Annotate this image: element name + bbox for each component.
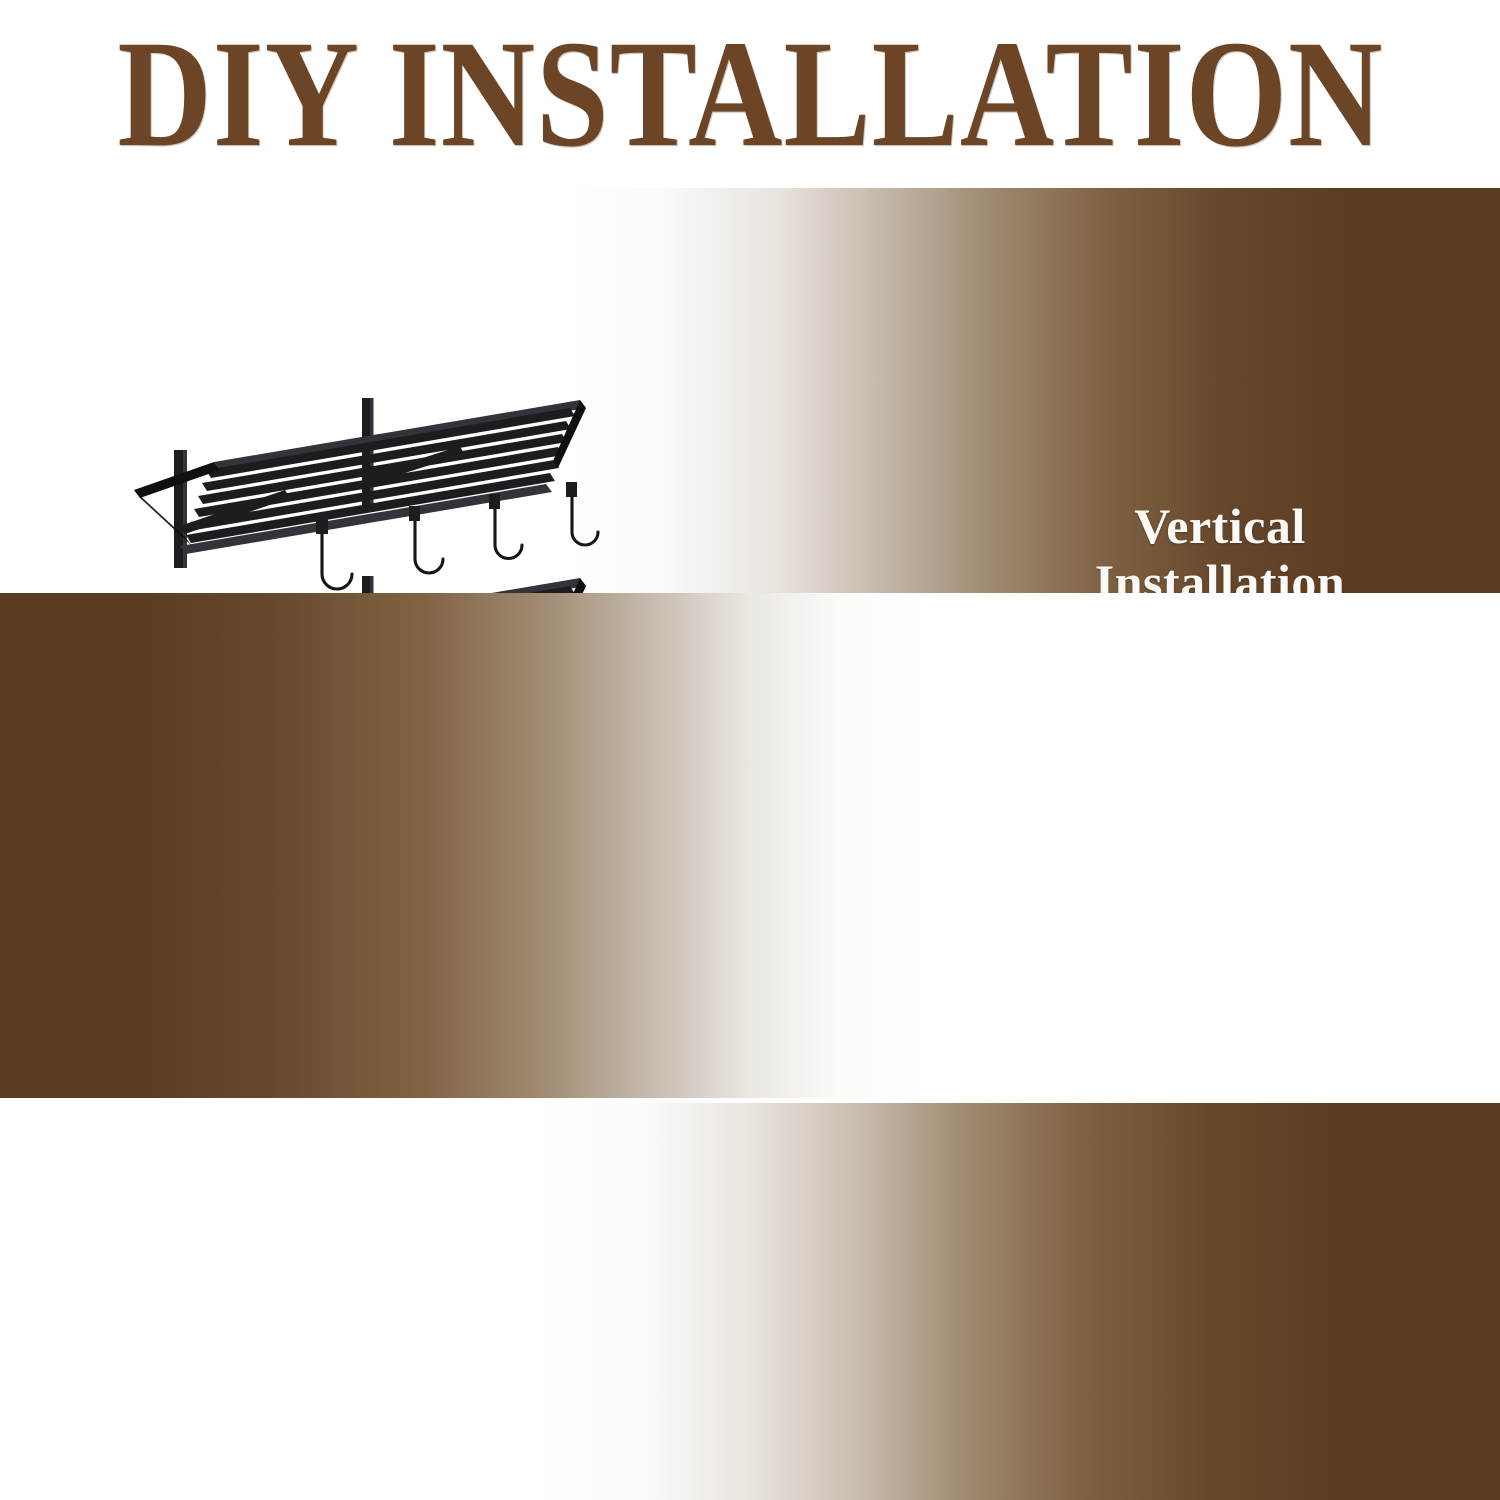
section-parallel-installation: Parallel Installation	[0, 593, 1500, 1098]
title-banner: DIY INSTALLATION	[0, 0, 1500, 188]
bracket-left-upper	[174, 450, 290, 568]
section-corner-wall-installation: Corner Wall Installation	[0, 1103, 1500, 1500]
caption-vertical-installation: Vertical Installation	[1010, 498, 1430, 593]
infographic-page: DIY INSTALLATION	[0, 0, 1500, 1500]
caption-line-1: Vertical	[1010, 498, 1430, 554]
shelf-lower	[134, 576, 598, 593]
section-vertical-installation: Vertical Installation	[0, 188, 1500, 593]
caption-line-2: Installation	[1010, 554, 1430, 593]
shelf-deck-lower	[134, 578, 586, 593]
shelf-deck-upper	[134, 400, 586, 554]
bracket-mid-upper	[362, 398, 464, 510]
bracket-mid-lower	[362, 576, 464, 593]
shelf-upper	[134, 398, 598, 589]
s-hook-row-upper	[322, 494, 598, 589]
page-title: DIY INSTALLATION	[117, 17, 1383, 170]
vertical-installation-illustration	[110, 378, 670, 593]
